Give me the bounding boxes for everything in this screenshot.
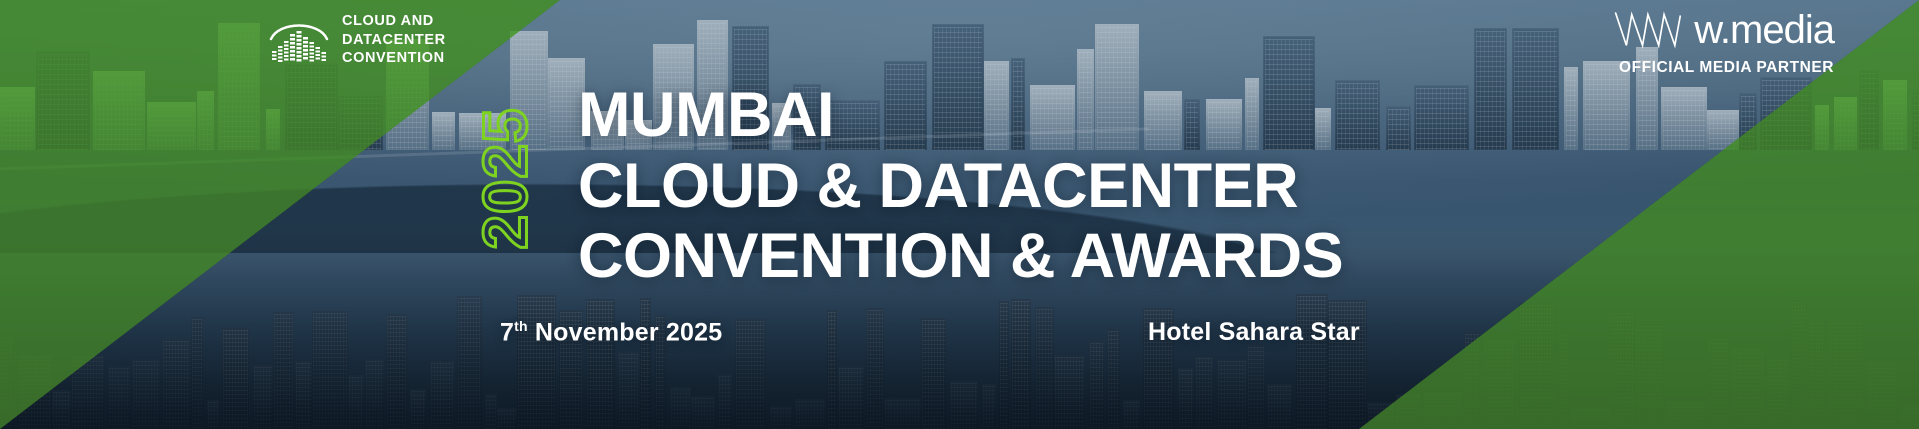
event-banner: CLOUD AND DATACENTER CONVENTION w.media …: [0, 0, 1919, 429]
event-title-line-3: CONVENTION & AWARDS: [578, 226, 1343, 288]
cdc-logo-line-3: CONVENTION: [342, 49, 446, 68]
event-date: 7th November 2025: [500, 318, 722, 347]
zigzag-wave-icon: [1614, 10, 1688, 50]
official-media-partner-label: OFFICIAL MEDIA PARTNER: [1619, 59, 1834, 77]
wmedia-wordmark: w.media: [1694, 10, 1834, 50]
cdc-logo-line-1: CLOUD AND: [342, 12, 446, 31]
event-title-line-1: MUMBAI: [578, 85, 1343, 147]
banner-content: CLOUD AND DATACENTER CONVENTION w.media …: [0, 0, 1919, 429]
event-year-vertical: 2025: [476, 88, 536, 268]
event-venue: Hotel Sahara Star: [1148, 318, 1360, 347]
event-year-text: 2025: [471, 107, 542, 249]
cdc-logo-line-2: DATACENTER: [342, 31, 446, 50]
event-title: MUMBAI CLOUD & DATACENTER CONVENTION & A…: [578, 85, 1343, 288]
city-skyline-icon: [268, 16, 330, 64]
event-title-line-2: CLOUD & DATACENTER: [578, 156, 1343, 218]
event-meta-row: 7th November 2025 Hotel Sahara Star: [0, 318, 1919, 358]
event-date-ordinal: th: [514, 318, 528, 334]
cloud-datacenter-convention-logo[interactable]: CLOUD AND DATACENTER CONVENTION: [268, 12, 446, 68]
media-partner-logo[interactable]: w.media OFFICIAL MEDIA PARTNER: [1614, 10, 1834, 77]
event-date-rest: November 2025: [528, 318, 723, 346]
cdc-logo-wordmark: CLOUD AND DATACENTER CONVENTION: [342, 12, 446, 68]
event-date-day: 7: [500, 318, 514, 346]
wmedia-lockup: w.media: [1614, 10, 1834, 50]
